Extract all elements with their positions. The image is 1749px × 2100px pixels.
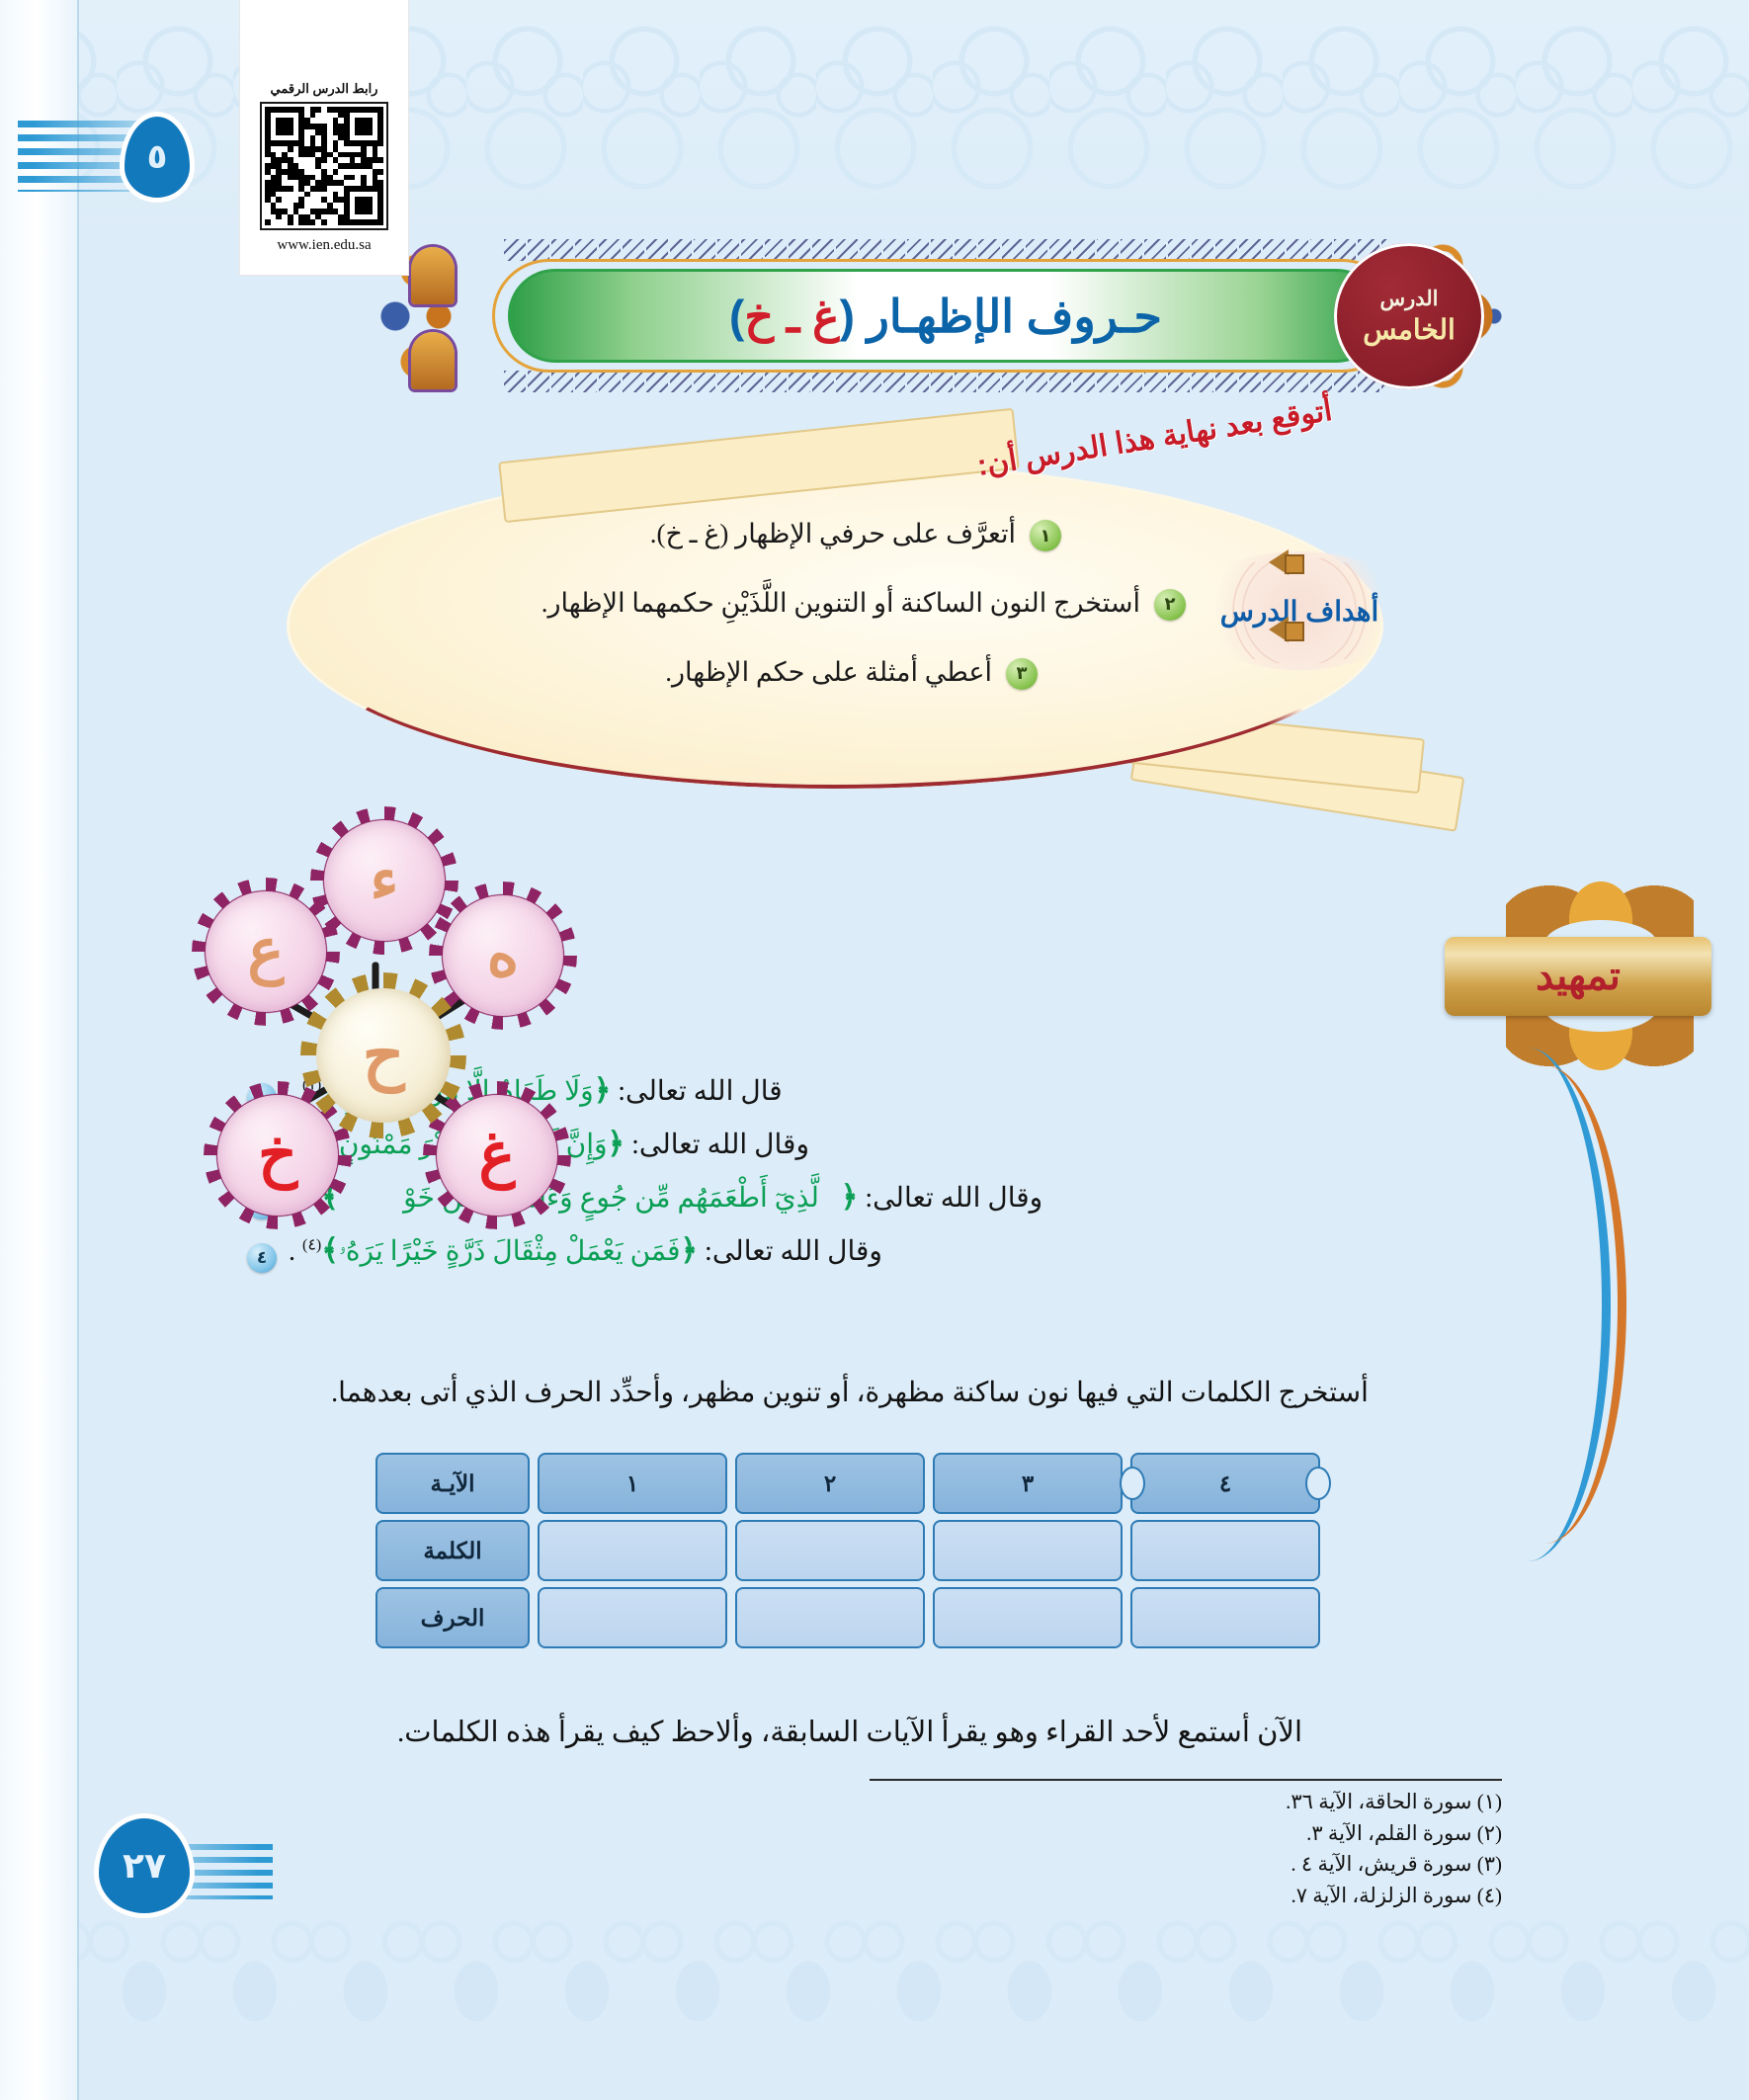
objective-item: ١ أتعرَّف على حرفي الإظهار (غ ـ خ). [326,516,1061,553]
quran-close-bracket: ﴾ [321,1234,339,1267]
table-cell-word-3[interactable] [933,1520,1123,1581]
verse-ayah: ٱلَّذِيٓ أَطْعَمَهُم مِّن جُوعٍ وَءَامَن… [339,1183,841,1214]
letter-circle-ghain: غ [437,1095,557,1216]
objectives-list: ١ أتعرَّف على حرفي الإظهار (غ ـ خ). ٢ أس… [326,516,1186,722]
zigzag-bottom-ornament [504,371,1387,392]
table-row: ٤ ٣ ٢ ١ الآيـة [375,1453,1364,1514]
digital-lesson-qr-card[interactable]: رابط الدرس الرقمي www.ien.edu.sa [240,0,408,275]
lesson-title-banner: حـروف الإظهـار (غ ـ خ) الدرس الخامس [375,229,1492,402]
table-row-header-word: الكلمة [375,1520,530,1581]
objective-text: أستخرج النون الساكنة أو التنوين اللَّذَي… [541,585,1140,623]
letter-glyph: خ [258,1125,297,1186]
unit-number: ٥ [147,137,168,177]
table-cell-letter-1[interactable] [538,1587,727,1648]
objective-item: ٢ أستخرج النون الساكنة أو التنوين اللَّذ… [326,585,1186,623]
quran-open-bracket: ﴿ [608,1128,625,1160]
quran-open-bracket: ﴿ [841,1181,859,1214]
objective-item: ٣ أعطي أمثلة على حكم الإظهار. [326,654,1038,692]
letter-circle-ain: ع [206,891,326,1012]
table-cell-letter-3[interactable] [933,1587,1123,1648]
center-letter-glyph: ح [363,1017,405,1094]
letter-glyph: ء [370,850,398,911]
closing-instruction: الآن أستمع لأحد القراء وهو يقرأ الآيات ا… [247,1715,1453,1749]
page-title: حـروف الإظهـار (غ ـ خ) [729,290,1162,343]
verse-lead: وقال الله تعالى: [705,1236,882,1267]
table-cell-ayah-3[interactable]: ٣ [933,1453,1123,1514]
unit-drop-icon: ٥ [125,117,190,198]
table-cell-word-1[interactable] [538,1520,727,1581]
verse-row: وقال الله تعالى: ﴿فَمَن يَعْمَلْ مِثْقَا… [247,1233,1462,1273]
quran-open-bracket: ﴿ [680,1234,698,1267]
arrow-icon-top [1255,549,1298,575]
verse-text: وقال الله تعالى: ﴿ٱلَّذِيٓ أَطْعَمَهُم م… [289,1180,1042,1215]
qr-url-text: www.ien.edu.sa [277,237,371,254]
letter-circle-ha: ه [443,895,563,1016]
qr-card-label: رابط الدرس الرقمي [271,81,378,97]
footnote-divider [870,1779,1502,1781]
footnote-item: (١) سورة الحاقة، الآية ٣٦. [870,1787,1502,1818]
objectives-section: أتوقع بعد نهاية هذا الدرس أن: أهداف الدر… [287,425,1482,850]
verse-text: وقال الله تعالى: ﴿فَمَن يَعْمَلْ مِثْقَا… [289,1233,882,1268]
table-row: الحرف [375,1587,1364,1648]
lesson-number-badge: الدرس الخامس [1334,243,1484,389]
objective-number: ٢ [1154,589,1186,621]
arrow-icon-bottom [1255,617,1298,642]
title-pill: حـروف الإظهـار (غ ـ خ) [508,269,1383,363]
objective-number: ١ [1030,520,1061,551]
table-cell-ayah-2[interactable]: ٢ [735,1453,925,1514]
footnote-item: (٣) سورة قريش، الآية ٤ . [870,1849,1502,1881]
tamheed-label: تمهيد [1536,954,1621,999]
table-cell-word-2[interactable] [735,1520,925,1581]
letter-circle-hamza: ء [324,820,445,941]
lesson-ordinal: الخامس [1363,313,1456,346]
title-letters-text: غ ـ خ [744,291,839,342]
footnote-item: (٤) سورة الزلزلة، الآية ٧. [870,1881,1502,1912]
letter-circle-center-ha: ح [316,988,451,1123]
page-number: ٢٧ [123,1846,166,1887]
verse-lead: قال الله تعالى: [618,1076,782,1107]
table-row: الكلمة [375,1520,1364,1581]
unit-badge: ٥ [18,117,206,196]
letter-glyph: غ [479,1125,516,1186]
table-cell-ayah-1[interactable]: ١ [538,1453,727,1514]
objective-text: أتعرَّف على حرفي الإظهار (غ ـ خ). [650,516,1016,553]
verse-ayah: فَمَن يَعْمَلْ مِثْقَالَ ذَرَّةٍ خَيْرًا… [339,1236,681,1267]
table-row-header-ayah: الآيـة [375,1453,530,1514]
zigzag-top-ornament [504,239,1387,261]
page-number-badge: ٢٧ [85,1818,273,1913]
table-row-header-letter: الحرف [375,1587,530,1648]
letter-glyph: ع [248,921,285,982]
footnote-item: (٢) سورة القلم، الآية ٣. [870,1818,1502,1850]
lesson-kicker: الدرس [1379,287,1438,311]
title-close-paren: ) [729,291,744,342]
answer-table: ٤ ٣ ٢ ١ الآيـة الكلمة الحرف [375,1453,1364,1654]
table-cell-letter-2[interactable] [735,1587,925,1648]
qr-code-icon[interactable] [260,102,388,230]
page-binding-strip [0,0,79,2100]
title-frame: حـروف الإظهـار (غ ـ خ) [486,239,1405,392]
footnotes: (١) سورة الحاقة، الآية ٣٦. (٢) سورة القل… [870,1779,1502,1911]
decorative-swoosh [1472,1048,1611,1561]
objective-number: ٣ [1006,658,1038,690]
tamheed-plate: تمهيد [1445,937,1711,1016]
page-number-drop-icon: ٢٧ [99,1818,190,1913]
letter-glyph: ه [487,925,519,986]
objective-text: أعطي أمثلة على حكم الإظهار. [665,654,992,692]
activity-instruction: أستخرج الكلمات التي فيها نون ساكنة مظهرة… [247,1376,1453,1409]
table-cell-letter-4[interactable] [1130,1587,1320,1648]
verse-footnote-ref: (٤) [302,1237,321,1254]
title-main-text: حـروف الإظهـار ( [840,291,1162,342]
table-cell-word-4[interactable] [1130,1520,1320,1581]
verse-lead: وقال الله تعالى: [631,1130,809,1160]
verse-lead: وقال الله تعالى: [865,1183,1042,1214]
table-cell-ayah-4[interactable]: ٤ [1130,1453,1320,1514]
quran-open-bracket: ﴿ [594,1074,612,1107]
verse-number: ٤ [247,1243,277,1273]
